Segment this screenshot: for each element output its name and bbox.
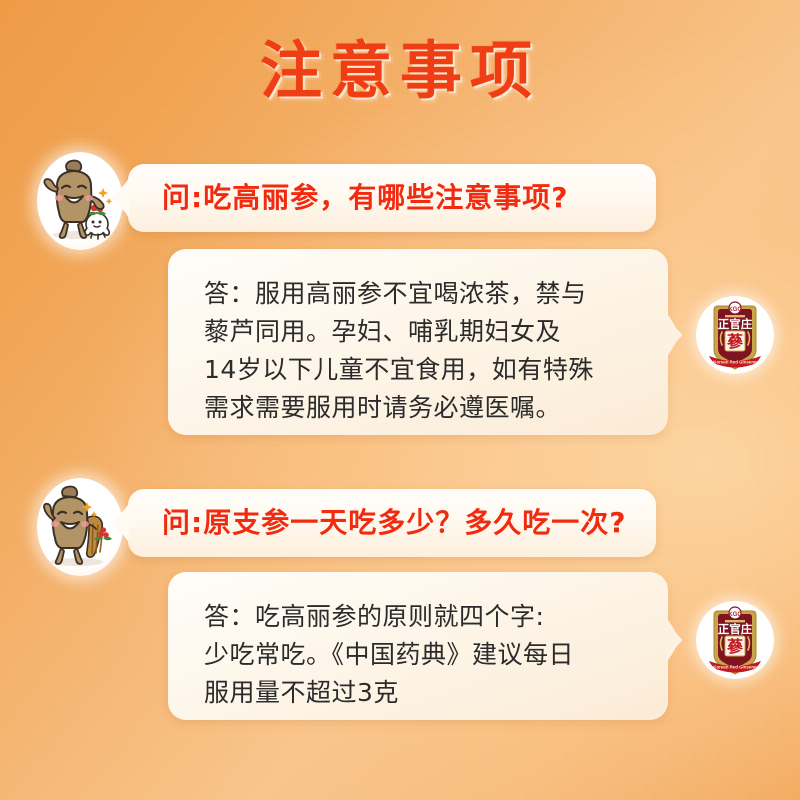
svg-text:Korean Red Ginseng: Korean Red Ginseng <box>713 360 757 365</box>
svg-text:蔘: 蔘 <box>726 637 744 656</box>
answer-bubble-tail-1 <box>666 312 684 358</box>
svg-text:KGC: KGC <box>728 307 742 313</box>
question-bubble-2: 问:原支参一天吃多少？多久吃一次? <box>128 489 656 557</box>
brand-badge-2: KGC 正官庄 蔘 Korean Red Ginseng <box>696 601 774 679</box>
svg-text:正官庄: 正官庄 <box>718 622 753 636</box>
page-title: 注意事项 <box>260 40 540 102</box>
question-bubble-1: 问:吃高丽参，有哪些注意事项? <box>128 164 656 232</box>
answer-bubble-2: 答：吃高丽参的原则就四个字: 少吃常吃。《中国药典》建议每日 服用量不超过3克 <box>168 572 668 720</box>
question-text-2: 问:原支参一天吃多少？多久吃一次? <box>162 506 626 540</box>
question-bubble-tail-2 <box>111 503 129 543</box>
svg-text:Korean Red Ginseng: Korean Red Ginseng <box>713 665 757 670</box>
answer-bubble-1: 答：服用高丽参不宜喝浓茶，禁与 藜芦同用。孕妇、哺乳期妇女及 14岁以下儿童不宜… <box>168 249 668 435</box>
answer-text-1: 答：服用高丽参不宜喝浓茶，禁与 藜芦同用。孕妇、哺乳期妇女及 14岁以下儿童不宜… <box>204 275 634 427</box>
brand-badge-1: KGC 正官庄 蔘 Korean Red Ginseng <box>696 296 774 374</box>
answer-text-2: 答：吃高丽参的原则就四个字: 少吃常吃。《中国药典》建议每日 服用量不超过3克 <box>204 598 634 712</box>
page-title-container: 注意事项 <box>0 40 800 102</box>
promo-page: 注意事项 <box>0 0 800 800</box>
svg-text:KGC: KGC <box>728 612 742 618</box>
answer-bubble-tail-2 <box>666 617 684 663</box>
question-bubble-tail-1 <box>111 178 129 218</box>
question-text-1: 问:吃高丽参，有哪些注意事项? <box>162 181 568 215</box>
svg-text:正官庄: 正官庄 <box>718 317 753 331</box>
svg-text:蔘: 蔘 <box>726 332 744 351</box>
